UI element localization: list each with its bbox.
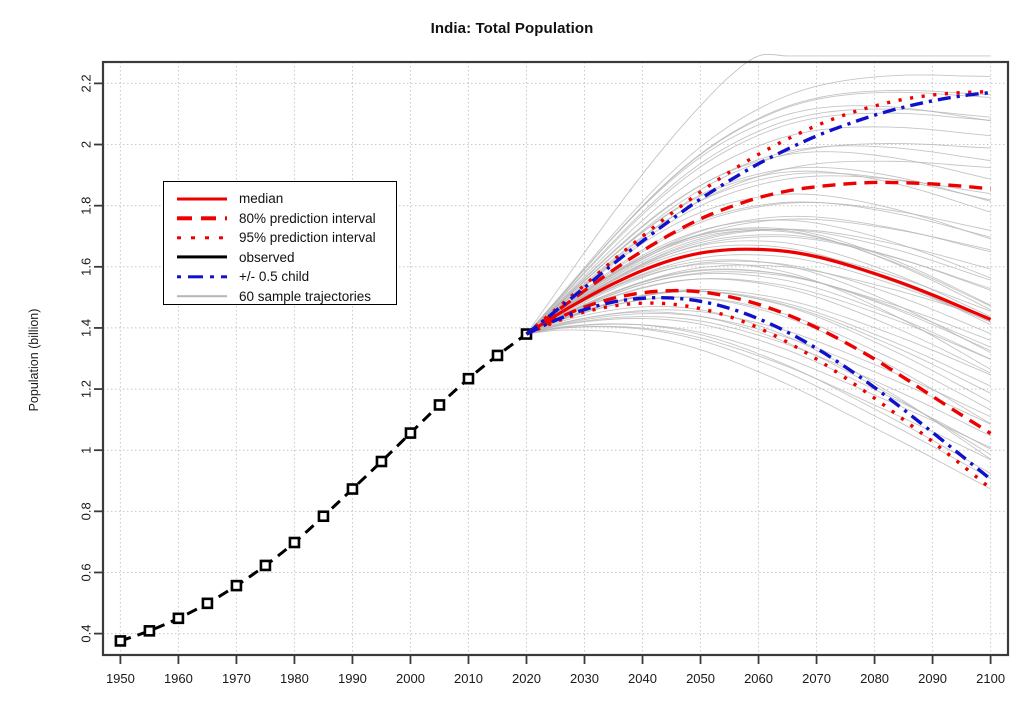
legend-item-trajectories: 60 sample trajectories bbox=[164, 287, 396, 307]
x-tick-label: 1980 bbox=[280, 671, 309, 686]
dotted-red-line-icon bbox=[174, 232, 230, 244]
x-tick-label: 2090 bbox=[918, 671, 947, 686]
y-tick-label: 1 bbox=[79, 447, 94, 454]
x-tick-label: 2020 bbox=[512, 671, 541, 686]
x-tick-label: 2030 bbox=[570, 671, 599, 686]
y-tick-label: 0.4 bbox=[79, 625, 94, 643]
legend-item-95-interval: 95% prediction interval bbox=[164, 228, 396, 248]
legend-label: +/- 0.5 child bbox=[239, 270, 309, 283]
x-tick-label: 2100 bbox=[976, 671, 1005, 686]
x-tick-label: 2050 bbox=[686, 671, 715, 686]
legend-item-half-child: +/- 0.5 child bbox=[164, 267, 396, 287]
x-tick-label: 1960 bbox=[164, 671, 193, 686]
y-tick-label: 1.2 bbox=[79, 380, 94, 398]
x-tick-label: 2000 bbox=[396, 671, 425, 686]
y-tick-label: 2.2 bbox=[79, 74, 94, 92]
x-tick-label: 2080 bbox=[860, 671, 889, 686]
plot-area: 1950196019701980199020002010202020302040… bbox=[0, 0, 1024, 704]
legend-label: 60 sample trajectories bbox=[239, 290, 371, 303]
legend-label: observed bbox=[239, 251, 295, 264]
dashed-red-line-icon bbox=[174, 212, 230, 224]
y-tick-label: 0.6 bbox=[79, 563, 94, 581]
x-tick-label: 2040 bbox=[628, 671, 657, 686]
y-tick-label: 0.8 bbox=[79, 502, 94, 520]
dashdot-blue-line-icon bbox=[174, 271, 230, 283]
x-tick-label: 1970 bbox=[222, 671, 251, 686]
x-tick-label: 2010 bbox=[454, 671, 483, 686]
x-tick-label: 1950 bbox=[106, 671, 135, 686]
solid-black-line-icon bbox=[174, 251, 230, 263]
x-tick-label: 2070 bbox=[802, 671, 831, 686]
solid-gray-line-icon bbox=[174, 290, 230, 302]
legend-item-observed: observed bbox=[164, 248, 396, 268]
legend-label: median bbox=[239, 192, 283, 205]
y-tick-label: 1.6 bbox=[79, 258, 94, 276]
axis-tick-labels: 1950196019701980199020002010202020302040… bbox=[79, 74, 1006, 686]
legend-item-80-interval: 80% prediction interval bbox=[164, 209, 396, 229]
population-projection-chart: 1950196019701980199020002010202020302040… bbox=[0, 0, 1024, 704]
y-tick-label: 1.4 bbox=[79, 319, 94, 337]
y-tick-label: 1.8 bbox=[79, 197, 94, 215]
x-tick-label: 1990 bbox=[338, 671, 367, 686]
chart-legend: median 80% prediction interval 95% predi… bbox=[163, 181, 397, 305]
y-tick-label: 2 bbox=[79, 141, 94, 148]
chart-page: India: Total Population 1950196019701980… bbox=[0, 0, 1024, 704]
legend-label: 80% prediction interval bbox=[239, 212, 376, 225]
legend-item-median: median bbox=[164, 189, 396, 209]
y-axis-label: Population (billion) bbox=[27, 309, 41, 412]
x-tick-label: 2060 bbox=[744, 671, 773, 686]
solid-red-line-icon bbox=[174, 193, 230, 205]
legend-label: 95% prediction interval bbox=[239, 231, 376, 244]
